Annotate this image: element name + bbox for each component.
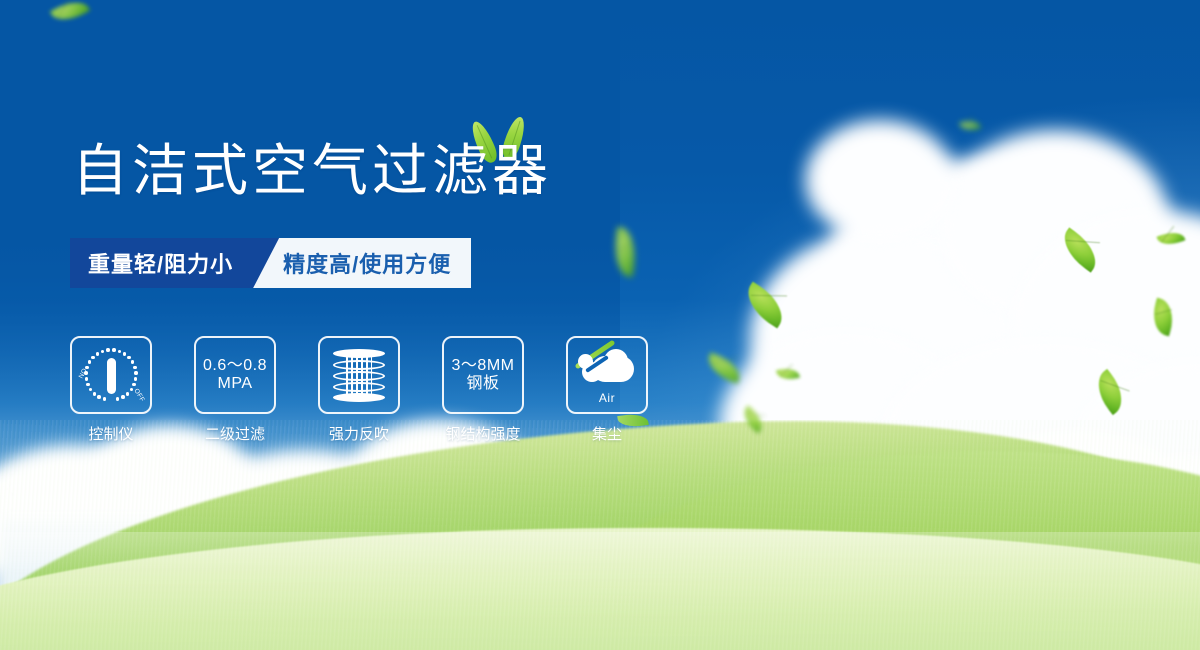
feature-item-steel-strength[interactable]: 3～8MM 钢板 钢结构强度: [442, 336, 524, 444]
feature-icon-box: 0.6～0.8 MPA: [194, 336, 276, 414]
gauge-tick: [93, 392, 97, 396]
air-label: Air: [599, 391, 615, 405]
feature-item-controller[interactable]: NO OFF 控制仪: [70, 336, 152, 444]
pressure-value-line2: MPA: [218, 375, 253, 393]
hill-shade: [0, 532, 1200, 650]
feature-item-backblow[interactable]: 强力反吹: [318, 336, 400, 444]
gauge-tick: [116, 397, 120, 401]
gauge-tick: [112, 348, 116, 352]
feature-caption: 集尘: [592, 423, 622, 444]
steel-value-line1: 3～8MM: [452, 357, 515, 375]
gauge-tick: [131, 360, 135, 364]
gauge-tick: [121, 395, 125, 399]
product-banner: 自洁式空气过滤器 重量轻/阻力小 精度高/使用方便 NO OFF 控制仪 0.6…: [0, 0, 1200, 650]
gauge-tick: [86, 383, 90, 387]
gauge-tick: [126, 392, 130, 396]
gauge-tick: [96, 352, 100, 356]
steel-value-line2: 钢板: [466, 375, 499, 393]
page-title: 自洁式空气过滤器: [72, 143, 552, 199]
feature-icon-box: [318, 336, 400, 414]
gauge-tick: [84, 371, 88, 375]
gauge-tick: [127, 356, 131, 360]
feature-caption: 控制仪: [88, 423, 133, 444]
gauge-needle: [107, 358, 116, 394]
feature-icon-box: 3～8MM 钢板: [442, 336, 524, 414]
feature-item-two-stage-filter[interactable]: 0.6～0.8 MPA 二级过滤: [194, 336, 276, 444]
grass-field: [0, 420, 1200, 650]
filter-cartridge-icon: [333, 347, 385, 403]
gauge-tick: [134, 377, 138, 381]
subtitle-right: 精度高/使用方便: [279, 238, 471, 288]
gauge-tick: [91, 356, 95, 360]
gauge-label-off: OFF: [132, 388, 145, 404]
feature-caption: 二级过滤: [205, 423, 265, 444]
gauge-tick: [101, 350, 105, 354]
gauge-tick: [103, 397, 107, 401]
gauge-dial-icon: NO OFF: [81, 346, 141, 404]
gauge-tick: [134, 371, 138, 375]
pressure-value-line1: 0.6～0.8: [203, 357, 267, 375]
subtitle-bar: 重量轻/阻力小 精度高/使用方便: [70, 238, 471, 288]
feature-list: NO OFF 控制仪 0.6～0.8 MPA 二级过滤: [70, 336, 648, 444]
gauge-tick: [88, 360, 92, 364]
feature-caption: 钢结构强度: [445, 423, 520, 444]
feature-item-dust-collection[interactable]: Air 集尘: [566, 336, 648, 444]
gauge-tick: [97, 395, 101, 399]
subtitle-left: 重量轻/阻力小: [70, 238, 253, 288]
cloud-air-icon: [576, 348, 638, 392]
gauge-tick: [132, 383, 136, 387]
gauge-tick: [123, 352, 127, 356]
gauge-tick: [118, 350, 122, 354]
gauge-tick: [85, 377, 89, 381]
subtitle-divider: [253, 238, 279, 288]
gauge-tick: [106, 348, 110, 352]
feature-icon-box: NO OFF: [70, 336, 152, 414]
gauge-tick: [133, 366, 137, 370]
feature-caption: 强力反吹: [329, 423, 389, 444]
gauge-tick: [89, 388, 93, 392]
feature-icon-box: Air: [566, 336, 648, 414]
gauge-tick: [85, 366, 89, 370]
